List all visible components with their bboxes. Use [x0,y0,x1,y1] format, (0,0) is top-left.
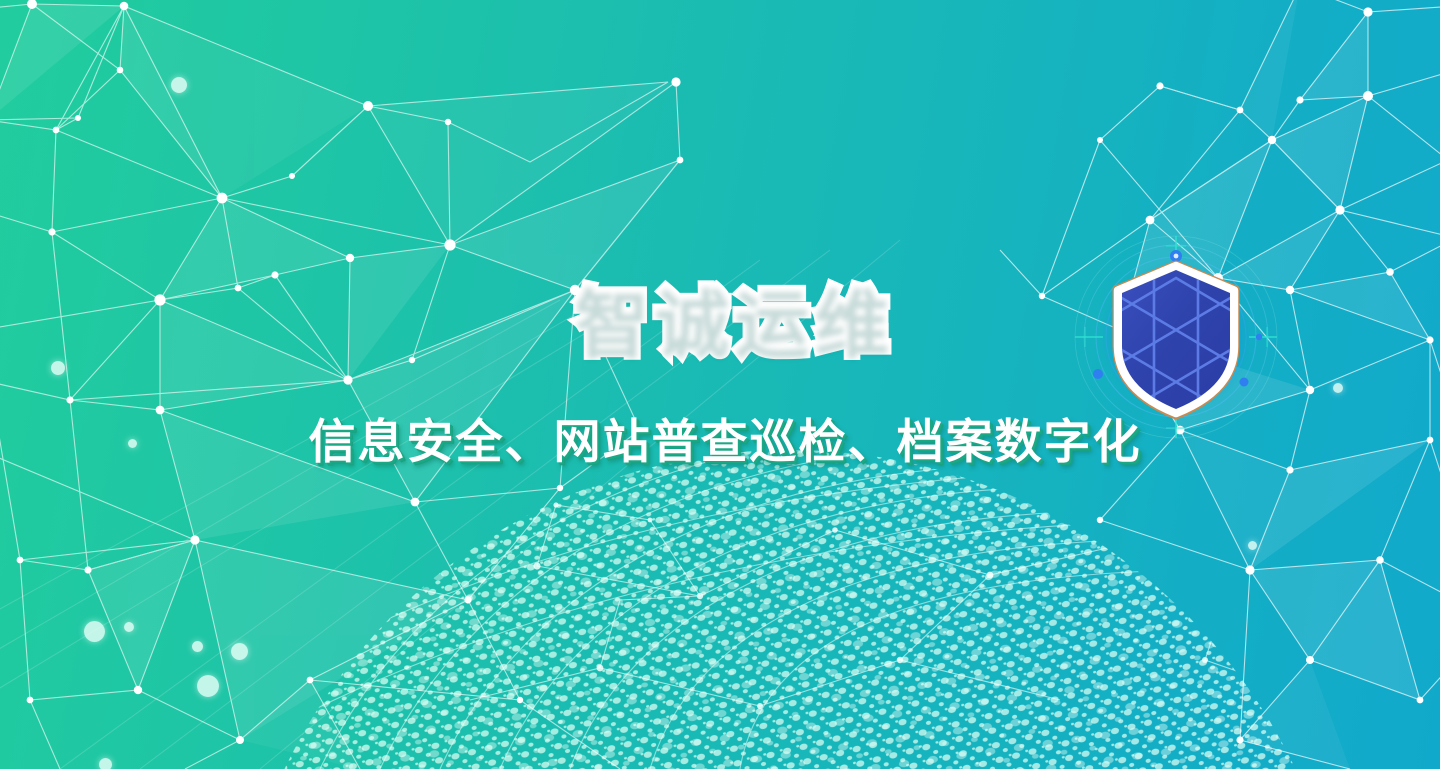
floating-dot [84,621,105,642]
page-title: 智诚运维 [0,286,1440,360]
page-subtitle: 信息安全、网站普查巡检、档案数字化 [0,418,1440,465]
floating-dot [192,641,203,652]
promo-banner: 智诚运维 信息安全、网站普查巡检、档案数字化 [0,0,1440,769]
floating-dot [124,622,134,632]
floating-dot [1248,541,1257,550]
floating-dot [197,675,219,697]
floating-dot [171,77,187,93]
banner-text-block: 智诚运维 信息安全、网站普查巡检、档案数字化 [0,286,1440,465]
floating-dot [99,758,112,769]
page-title-text: 智诚运维 [575,286,895,360]
floating-dot [231,643,248,660]
